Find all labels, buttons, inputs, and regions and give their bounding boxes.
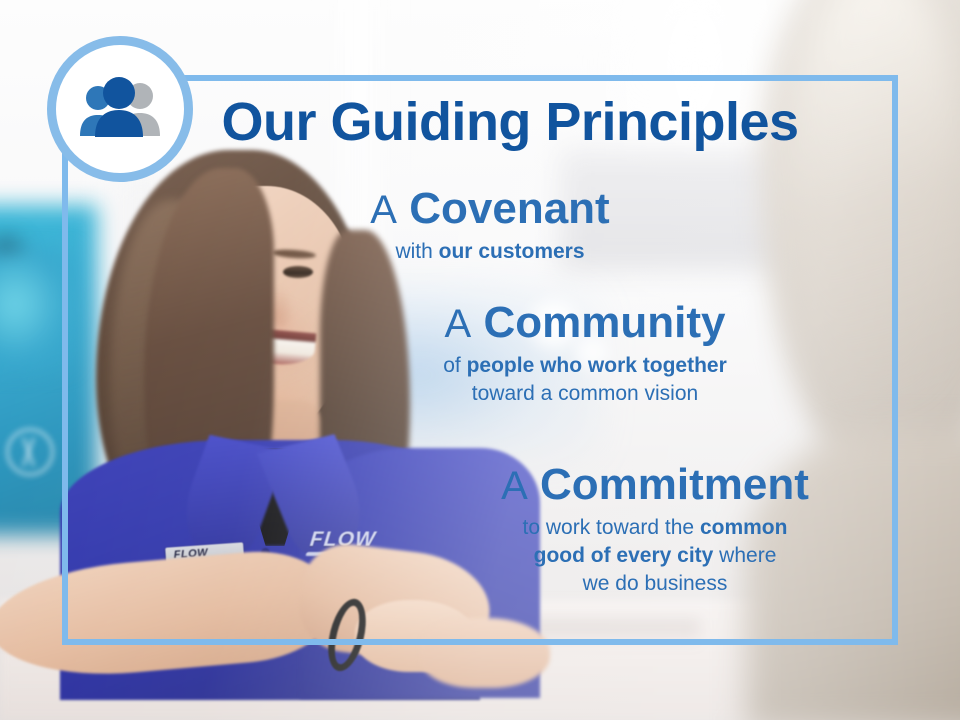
- principle-community: A Community of people who work togethert…: [350, 300, 820, 408]
- principle-commitment-heading: A Commitment: [420, 462, 890, 508]
- principle-commitment-keyword: Commitment: [540, 460, 809, 509]
- principle-covenant-article: A: [370, 188, 397, 232]
- principle-community-heading: A Community: [350, 300, 820, 346]
- principle-covenant: A Covenant with our customers: [300, 186, 680, 266]
- poster-canvas: FLOW FLOW Automotive: [0, 0, 960, 720]
- page-title: Our Guiding Principles: [0, 95, 960, 149]
- principle-commitment-subtext: to work toward the commongood of every c…: [420, 514, 890, 597]
- principle-covenant-keyword: Covenant: [409, 184, 609, 233]
- principle-community-keyword: Community: [483, 298, 725, 347]
- principle-covenant-subtext: with our customers: [300, 238, 680, 266]
- principle-commitment: A Commitment to work toward the commongo…: [420, 462, 890, 597]
- principle-community-article: A: [445, 302, 472, 346]
- principle-commitment-article: A: [501, 464, 528, 508]
- principle-covenant-heading: A Covenant: [300, 186, 680, 232]
- principle-community-subtext: of people who work togethertoward a comm…: [350, 352, 820, 407]
